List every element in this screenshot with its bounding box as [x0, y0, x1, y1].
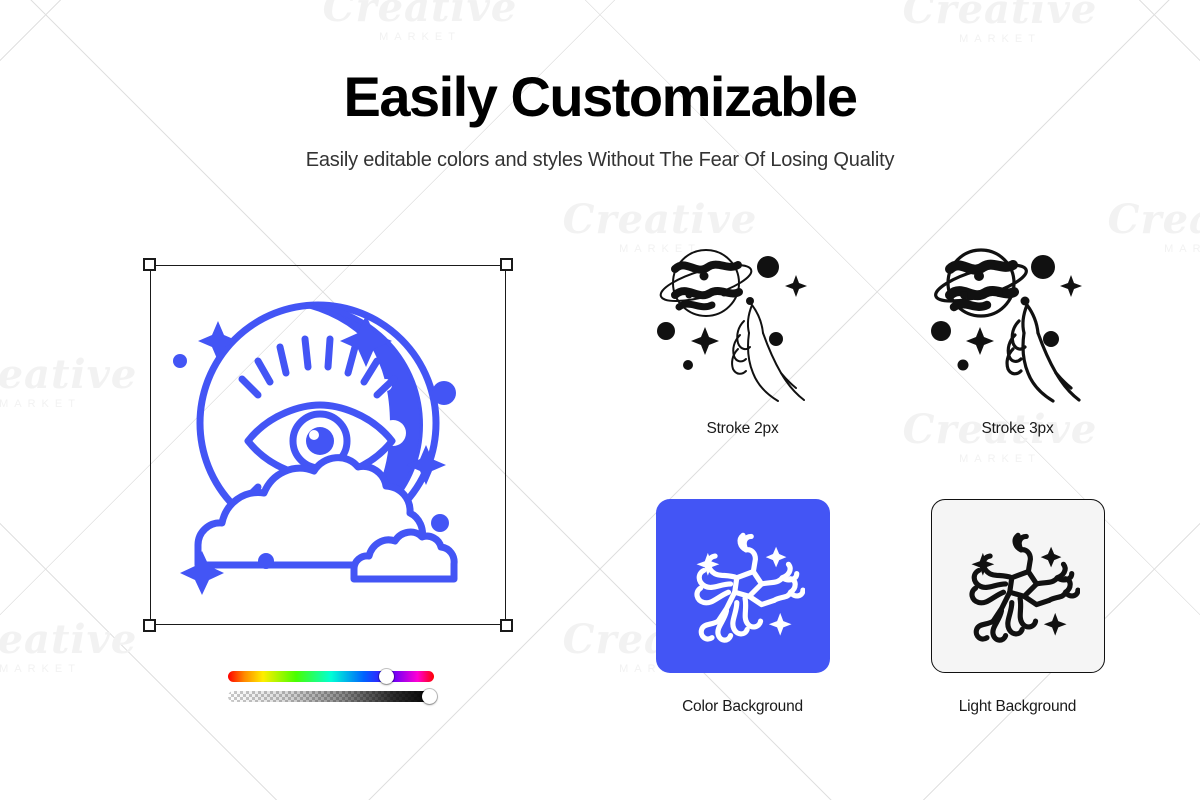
hand-reaching-planet-icon [923, 243, 1113, 418]
selection-handle-bottom-right[interactable] [500, 619, 513, 632]
watermark-sub: MARKET [900, 34, 1100, 45]
variant-artwork [620, 496, 865, 676]
page-title: Easily Customizable [0, 68, 1200, 127]
variant-label: Light Background [895, 698, 1140, 716]
variant-artwork [895, 240, 1140, 420]
light-background-badge[interactable] [931, 499, 1105, 673]
watermark-brand: Creative [900, 0, 1100, 30]
watermark-logo: Creative MARKET [320, 0, 520, 43]
variant-stroke-3px[interactable]: Stroke 3px [895, 240, 1140, 438]
variant-artwork [620, 240, 865, 420]
watermark-sub: MARKET [320, 32, 520, 43]
variant-color-background[interactable]: Color Background [620, 496, 865, 716]
variant-label: Stroke 2px [620, 420, 865, 438]
color-background-badge[interactable] [656, 499, 830, 673]
scorpio-scorpion-icon [681, 524, 805, 648]
hue-slider-knob[interactable] [379, 669, 394, 684]
variant-artwork [895, 496, 1140, 676]
moon-eye-clouds-illustration [158, 273, 498, 617]
watermark-brand: Creative [560, 200, 760, 240]
variants-grid: Stroke 2px [620, 240, 1140, 716]
watermark-logo: Creative MARKET [0, 620, 140, 675]
color-picker-sliders[interactable] [228, 671, 434, 711]
watermark-brand: Creative [0, 355, 140, 395]
watermark-brand: Creative [320, 0, 520, 28]
variant-stroke-2px[interactable]: Stroke 2px [620, 240, 865, 438]
watermark-sub: MARKET [0, 399, 140, 410]
hue-slider[interactable] [228, 671, 434, 682]
variant-label: Stroke 3px [895, 420, 1140, 438]
page-subtitle: Easily editable colors and styles Withou… [0, 149, 1200, 172]
variant-light-background[interactable]: Light Background [895, 496, 1140, 716]
selection-handle-top-right[interactable] [500, 258, 513, 271]
stroke-variants-row: Stroke 2px [620, 240, 1140, 438]
watermark-logo: Creative MARKET [900, 0, 1100, 45]
watermark-sub: MARKET [0, 664, 140, 675]
selection-handle-bottom-left[interactable] [143, 619, 156, 632]
background-variants-row: Color Background [620, 496, 1140, 716]
alpha-slider[interactable] [228, 691, 434, 702]
alpha-slider-knob[interactable] [422, 689, 437, 704]
watermark-brand: Creative [0, 620, 140, 660]
scorpio-scorpion-icon [956, 524, 1080, 648]
hand-reaching-planet-icon [648, 243, 838, 418]
page-header: Easily Customizable Easily editable colo… [0, 68, 1200, 172]
artboard-selection[interactable] [150, 265, 506, 625]
variant-label: Color Background [620, 698, 865, 716]
selection-handle-top-left[interactable] [143, 258, 156, 271]
watermark-brand: Creative [1105, 200, 1200, 240]
watermark-logo: Creative MARKET [0, 355, 140, 410]
